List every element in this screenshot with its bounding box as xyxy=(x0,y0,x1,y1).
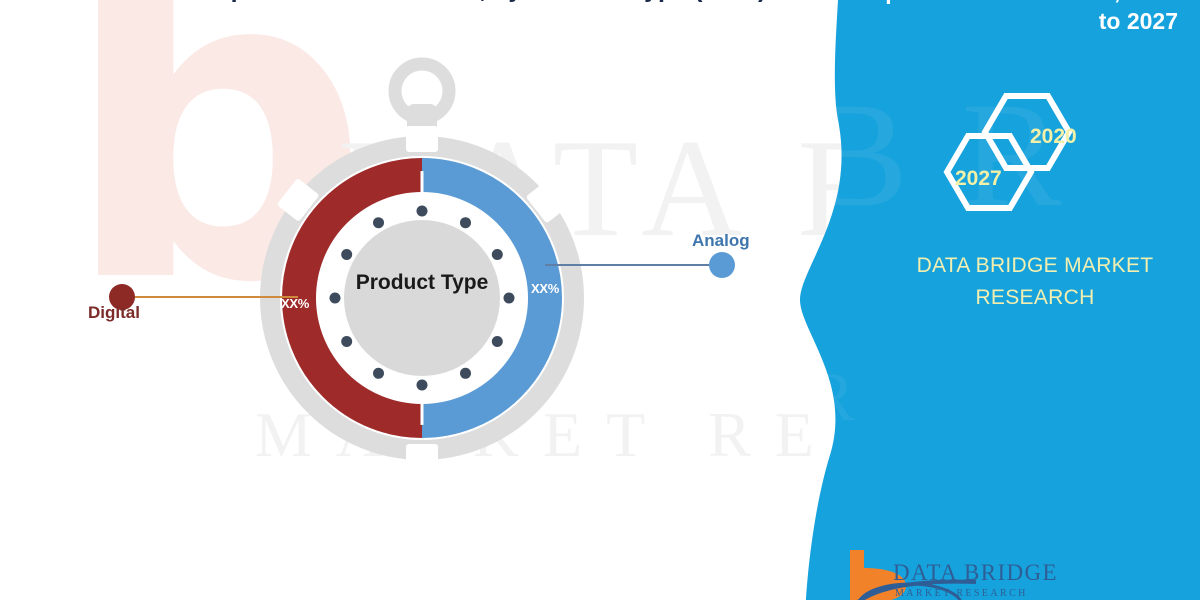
page-title: Europe Flowmeter Market, by Product Type… xyxy=(120,0,820,4)
callout-label-analog: Analog xyxy=(692,231,750,251)
brand-name-line2: RESEARCH xyxy=(880,282,1190,314)
brand-name: DATA BRIDGE MARKET RESEARCH xyxy=(880,250,1190,314)
brand-name-line1: DATA BRIDGE MARKET xyxy=(880,250,1190,282)
footer-logo-subtext: MARKET RESEARCH xyxy=(895,588,1028,599)
slice-percent-analog: XX% xyxy=(531,281,559,296)
inner-disc xyxy=(344,220,500,376)
donut-chart xyxy=(252,48,592,468)
footer-logo-text: DATA BRIDGE xyxy=(893,560,1058,586)
marker-dot-analog xyxy=(709,252,735,278)
infographic-canvas: b DATA BRIDGE MARKET RESEARCH B R R Euro… xyxy=(0,0,1200,600)
leader-line-analog xyxy=(545,264,717,266)
panel-title: Europe Flowmeter Market, 2020 to 2027 xyxy=(818,0,1178,36)
slice-percent-digital: XX% xyxy=(281,296,309,311)
hexagon-label-2027: 2027 xyxy=(955,167,1002,191)
leader-line-digital xyxy=(130,296,298,298)
hexagon-badges xyxy=(930,88,1120,228)
callout-label-digital: Digital xyxy=(88,303,140,323)
hexagon-label-2020: 2020 xyxy=(1030,125,1077,149)
